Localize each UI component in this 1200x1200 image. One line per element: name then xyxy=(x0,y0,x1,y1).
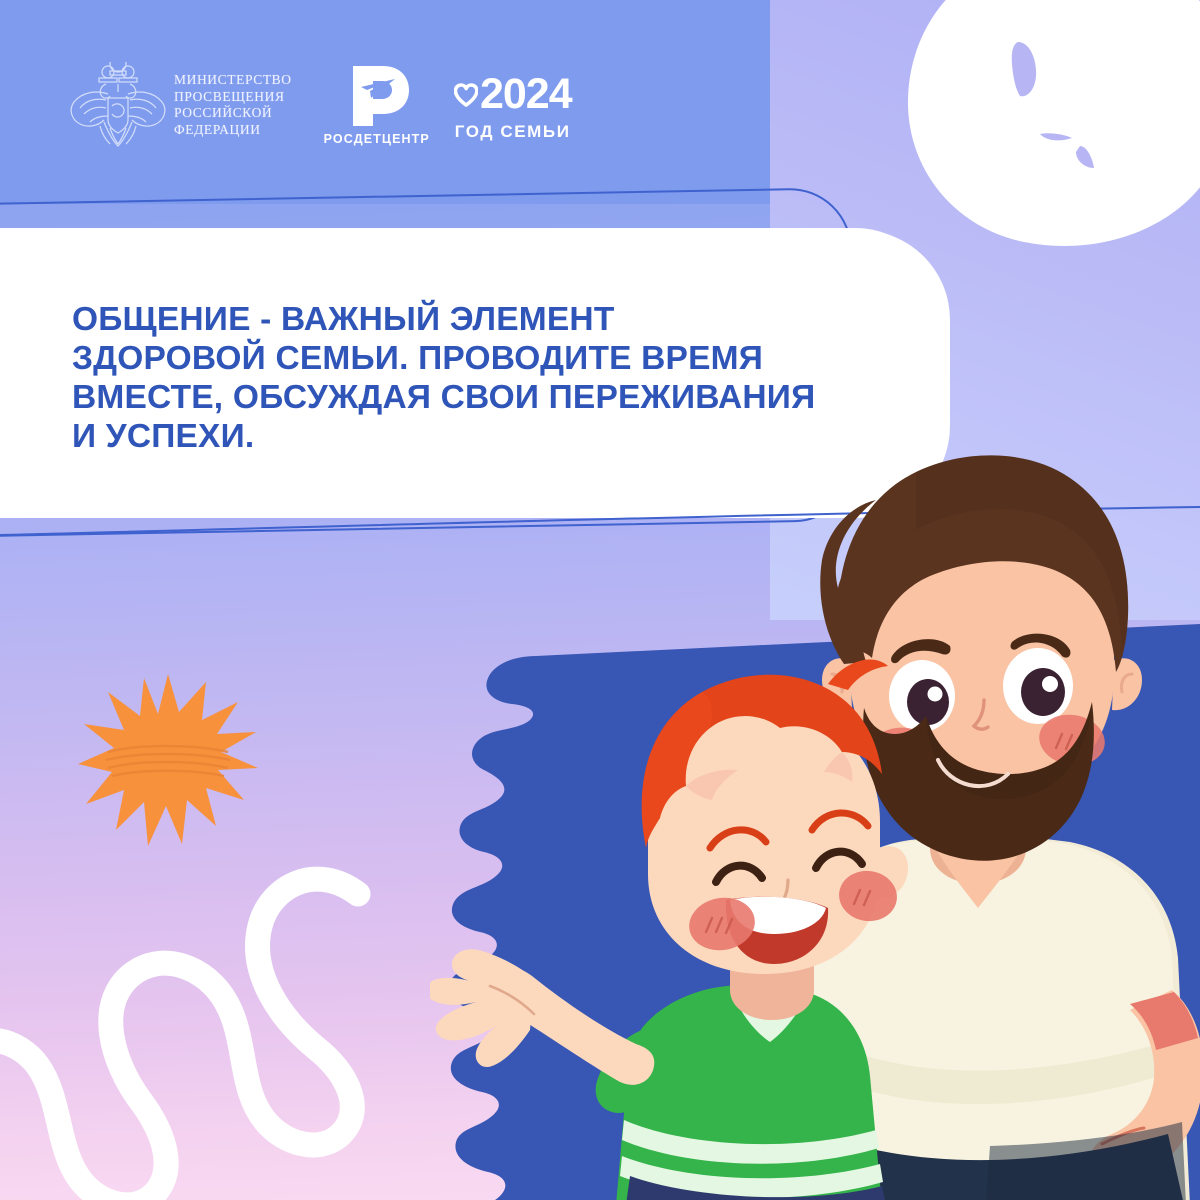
year-of-family-subtitle: ГОД СЕМЬИ xyxy=(454,122,572,142)
cloud-blob-shape xyxy=(896,0,1200,256)
sunburst-star-icon xyxy=(78,672,258,848)
poster-root: ОБЩЕНИЕ - ВАЖНЫЙ ЭЛЕМЕНТ ЗДОРОВОЙ СЕМЬИ.… xyxy=(0,0,1200,1200)
rosdetcentr-r-paperplane-logo xyxy=(341,65,413,127)
russian-double-headed-eagle-emblem xyxy=(66,62,170,148)
year-of-family-logo: 2024 ГОД СЕМЬИ xyxy=(454,69,572,142)
heart-icon xyxy=(454,78,478,112)
rosdetcentr-label: РОСДЕТЦЕНТР xyxy=(324,132,430,146)
year-label: 2024 xyxy=(480,73,572,116)
ministry-name-label: МИНИСТЕРСТВО ПРОСВЕЩЕНИЯ РОССИЙСКОЙ ФЕДЕ… xyxy=(174,72,292,138)
logo-strip: МИНИСТЕРСТВО ПРОСВЕЩЕНИЯ РОССИЙСКОЙ ФЕДЕ… xyxy=(66,58,572,152)
father-and-son-illustration xyxy=(430,430,1200,1200)
spiral-coil-doodle-icon xyxy=(0,856,384,1200)
rosdetcentr-logo: РОСДЕТЦЕНТР xyxy=(324,65,430,146)
